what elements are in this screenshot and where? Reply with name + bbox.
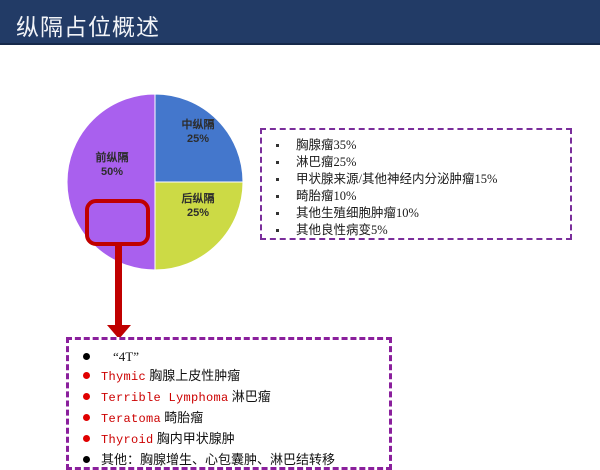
pie-label-anterior-value: 50% <box>80 165 144 179</box>
list-item: Terrible Lymphoma 淋巴瘤 <box>79 387 379 408</box>
four-t-en-term: Teratoma <box>101 412 161 426</box>
slide-title-bar: 纵隔占位概述 <box>0 0 600 45</box>
pie-label-posterior: 后纵隔 25% <box>166 192 230 220</box>
pie-label-middle: 中纵隔 25% <box>166 118 230 146</box>
four-t-cn-term: 淋巴瘤 <box>232 389 271 404</box>
bullet-dot-icon <box>83 414 90 421</box>
etiology-breakdown-box: 胸腺瘤35% 淋巴瘤25% 甲状腺来源/其他神经内分泌肿瘤15% 畸胎瘤10% … <box>260 128 572 240</box>
bullet-dot-icon <box>83 456 90 463</box>
list-item: Thyroid 胸内甲状腺肿 <box>79 429 379 450</box>
list-item: 甲状腺来源/其他神经内分泌肿瘤15% <box>270 171 562 188</box>
pie-label-posterior-name: 后纵隔 <box>166 192 230 206</box>
etiology-list: 胸腺瘤35% 淋巴瘤25% 甲状腺来源/其他神经内分泌肿瘤15% 畸胎瘤10% … <box>270 137 562 239</box>
bullet-dot-icon <box>83 372 90 379</box>
list-item: 其他：胸腺增生、心包囊肿、淋巴结转移 <box>79 450 379 469</box>
four-t-cn-term: 畸胎瘤 <box>164 410 203 425</box>
four-t-en-term: Terrible Lymphoma <box>101 391 229 405</box>
four-t-heading-label: “4T” <box>113 349 139 364</box>
four-t-en-term: Thyroid <box>101 433 154 447</box>
slide-content-area: 中纵隔 25% 后纵隔 25% 前纵隔 50% 胸腺瘤35% 淋巴瘤25% 甲状… <box>0 45 600 450</box>
list-item: 畸胎瘤10% <box>270 188 562 205</box>
list-item: 胸腺瘤35% <box>270 137 562 154</box>
pie-label-middle-value: 25% <box>166 132 230 146</box>
list-item: 其他良性病变5% <box>270 222 562 239</box>
callout-connector-line <box>115 243 122 329</box>
list-item-heading: “4T” <box>79 347 379 366</box>
page-title: 纵隔占位概述 <box>16 8 160 42</box>
bullet-dot-icon <box>83 353 90 360</box>
pie-label-anterior: 前纵隔 50% <box>80 151 144 179</box>
list-item: Thymic 胸腺上皮性肿瘤 <box>79 366 379 387</box>
four-t-list: “4T” Thymic 胸腺上皮性肿瘤 Terrible Lymphoma 淋巴… <box>79 347 379 469</box>
pie-label-middle-name: 中纵隔 <box>166 118 230 132</box>
list-item: 淋巴瘤25% <box>270 154 562 171</box>
bullet-dot-icon <box>83 435 90 442</box>
four-t-other-label: 其他：胸腺增生、心包囊肿、淋巴结转移 <box>101 452 335 467</box>
list-item: Teratoma 畸胎瘤 <box>79 408 379 429</box>
four-t-cn-term: 胸腺上皮性肿瘤 <box>149 368 240 383</box>
four-t-en-term: Thymic <box>101 370 146 384</box>
list-item: 其他生殖细胞肿瘤10% <box>270 205 562 222</box>
pie-label-posterior-value: 25% <box>166 206 230 220</box>
pie-label-anterior-name: 前纵隔 <box>80 151 144 165</box>
anterior-mediastinum-highlight-box <box>85 199 150 246</box>
bullet-dot-icon <box>83 393 90 400</box>
four-t-mnemonic-box: “4T” Thymic 胸腺上皮性肿瘤 Terrible Lymphoma 淋巴… <box>66 337 392 470</box>
four-t-cn-term: 胸内甲状腺肿 <box>157 431 235 446</box>
